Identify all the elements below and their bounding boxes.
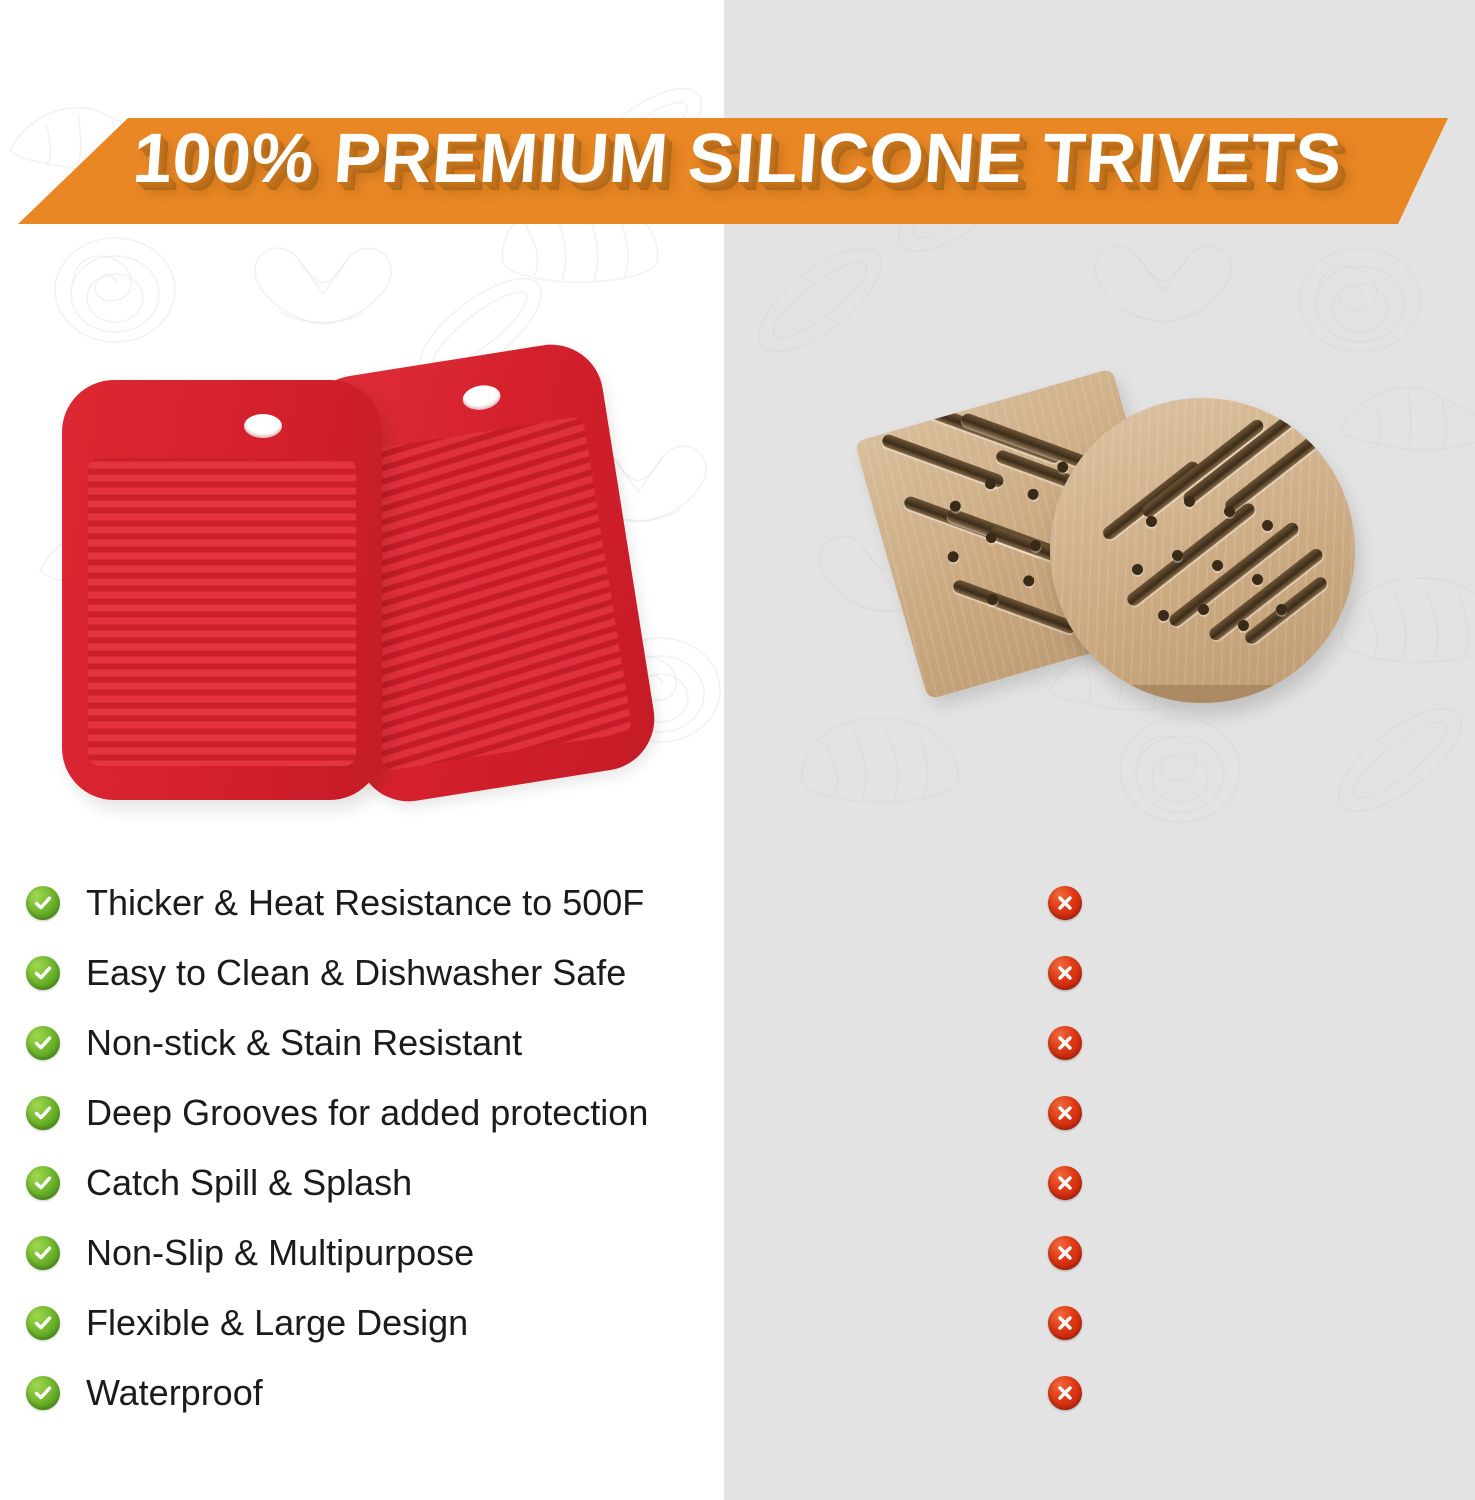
con-row xyxy=(1048,1148,1168,1218)
check-circle-icon xyxy=(26,1166,60,1200)
red-trivet-front-hanging-hole xyxy=(244,414,282,438)
banner-title: 100% PREMIUM SILICONE TRIVETS xyxy=(0,92,1475,224)
x-circle-icon xyxy=(1048,886,1082,920)
feature-label: Thicker & Heat Resistance to 500F xyxy=(86,882,644,924)
check-circle-icon xyxy=(26,1026,60,1060)
feature-list: Thicker & Heat Resistance to 500F Easy t… xyxy=(26,868,726,1428)
x-circle-icon xyxy=(1048,1096,1082,1130)
x-circle-icon xyxy=(1048,956,1082,990)
con-row xyxy=(1048,1078,1168,1148)
con-row xyxy=(1048,1288,1168,1358)
red-trivet-back-hanging-hole xyxy=(461,383,502,413)
red-trivet-front-ribs xyxy=(88,458,356,766)
con-row xyxy=(1048,1218,1168,1288)
check-circle-icon xyxy=(26,886,60,920)
feature-row: Easy to Clean & Dishwasher Safe xyxy=(26,938,726,1008)
check-circle-icon xyxy=(26,1376,60,1410)
feature-label: Easy to Clean & Dishwasher Safe xyxy=(86,952,626,994)
x-circle-icon xyxy=(1048,1376,1082,1410)
feature-row: Catch Spill & Splash xyxy=(26,1148,726,1218)
infographic-page: 100% PREMIUM SILICONE TRIVETS xyxy=(0,0,1475,1500)
product-image-zone xyxy=(0,230,1475,830)
x-circle-icon xyxy=(1048,1306,1082,1340)
feature-label: Deep Grooves for added protection xyxy=(86,1092,648,1134)
con-row xyxy=(1048,1358,1168,1428)
con-row xyxy=(1048,868,1168,938)
feature-label: Waterproof xyxy=(86,1372,263,1414)
check-circle-icon xyxy=(26,1306,60,1340)
feature-label: Flexible & Large Design xyxy=(86,1302,468,1344)
feature-row: Waterproof xyxy=(26,1358,726,1428)
feature-label: Non-stick & Stain Resistant xyxy=(86,1022,522,1064)
feature-row: Deep Grooves for added protection xyxy=(26,1078,726,1148)
con-row xyxy=(1048,1008,1168,1078)
red-trivet-front xyxy=(62,380,382,800)
feature-row: Non-stick & Stain Resistant xyxy=(26,1008,726,1078)
check-circle-icon xyxy=(26,1096,60,1130)
check-circle-icon xyxy=(26,1236,60,1270)
check-circle-icon xyxy=(26,956,60,990)
x-circle-icon xyxy=(1048,1166,1082,1200)
bamboo-trivets-image xyxy=(800,230,1460,830)
con-list xyxy=(1048,868,1168,1428)
feature-row: Flexible & Large Design xyxy=(26,1288,726,1358)
feature-row: Thicker & Heat Resistance to 500F xyxy=(26,868,726,938)
feature-label: Catch Spill & Splash xyxy=(86,1162,412,1204)
bamboo-round-trivet xyxy=(1050,398,1355,703)
feature-label: Non-Slip & Multipurpose xyxy=(86,1232,474,1274)
con-row xyxy=(1048,938,1168,1008)
bamboo-round-slots xyxy=(1050,398,1355,703)
x-circle-icon xyxy=(1048,1236,1082,1270)
x-circle-icon xyxy=(1048,1026,1082,1060)
header-banner: 100% PREMIUM SILICONE TRIVETS xyxy=(0,118,1475,224)
feature-row: Non-Slip & Multipurpose xyxy=(26,1218,726,1288)
